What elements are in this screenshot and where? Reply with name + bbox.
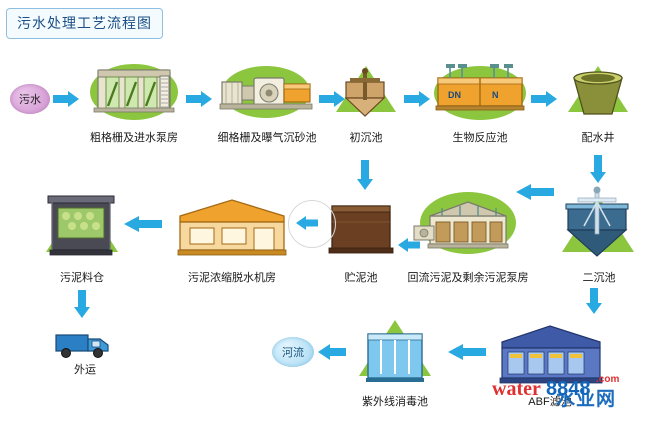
- node-step12: [348, 312, 442, 392]
- step1-label: 粗格栅及进水泵房: [69, 132, 199, 145]
- watermark-brand: water: [492, 378, 541, 401]
- node-step5: [558, 56, 638, 124]
- node-step6: [556, 182, 640, 264]
- arrow-step12-to-river: [318, 344, 346, 360]
- flowchart-canvas: 污水处理工艺流程图 污水 粗格栅及进水泵: [0, 0, 650, 423]
- start-node-sewage: 污水: [10, 84, 50, 114]
- step9-icon: [172, 192, 292, 262]
- arrow-step1-to-step2: [186, 91, 212, 107]
- arrow-step6-to-step13: [586, 288, 602, 314]
- node-step4: DN N: [430, 56, 530, 124]
- node-step1: [84, 60, 184, 122]
- step6-icon: [556, 182, 640, 264]
- page-title: 污水处理工艺流程图: [6, 8, 163, 39]
- svg-text:DN: DN: [448, 90, 461, 100]
- step6-label: 二沉池: [564, 272, 634, 285]
- watermark-domain: .com: [596, 374, 619, 385]
- step4-label: 生物反应池: [440, 132, 520, 145]
- arrow-step8-to-step9: [296, 216, 318, 230]
- step5-label: 配水井: [563, 132, 633, 145]
- node-step11: [52, 325, 118, 363]
- river-node: 河流: [272, 337, 314, 367]
- arrow-step3-to-step8: [357, 160, 373, 190]
- truck-icon: [52, 325, 118, 363]
- svg-text:N: N: [492, 90, 499, 100]
- node-step10: [36, 182, 128, 262]
- step11-label: 外运: [56, 364, 114, 377]
- node-step2: [214, 60, 318, 122]
- step7-label: 回流污泥及剩余污泥泵房: [402, 272, 534, 285]
- step4-icon: DN N: [430, 56, 530, 124]
- step10-icon: [36, 182, 128, 262]
- step3-icon: [330, 58, 402, 124]
- arrow-sewage-to-step1: [53, 91, 79, 107]
- node-step9: [172, 192, 292, 262]
- arrow-step10-to-step11: [74, 290, 90, 318]
- step7-icon: [412, 186, 524, 262]
- step12-label: 紫外线消毒池: [352, 396, 438, 409]
- arrow-step13-to-step12: [448, 344, 486, 360]
- step8-label: 贮泥池: [326, 272, 396, 285]
- node-step3: [330, 58, 402, 124]
- step9-label: 污泥浓缩脱水机房: [172, 272, 292, 285]
- step2-label: 细格栅及曝气沉砂池: [200, 132, 334, 145]
- step10-label: 污泥料仓: [44, 272, 120, 285]
- river-node-label: 河流: [282, 344, 304, 360]
- arrow-step5-to-step6: [590, 155, 606, 183]
- step1-icon: [84, 60, 184, 122]
- step3-label: 初沉池: [331, 132, 401, 145]
- step5-icon: [558, 56, 638, 124]
- node-step7: [412, 186, 524, 262]
- arrow-step4-to-step5: [531, 91, 557, 107]
- start-node-label: 污水: [19, 91, 41, 107]
- arrow-step3-to-step4: [404, 91, 430, 107]
- step12-icon: [348, 312, 442, 392]
- arrow-step9-to-step10: [124, 216, 162, 232]
- step2-icon: [214, 60, 318, 122]
- arrow-step7-to-step8: [398, 238, 420, 252]
- watermark-text: 水业网: [556, 384, 616, 411]
